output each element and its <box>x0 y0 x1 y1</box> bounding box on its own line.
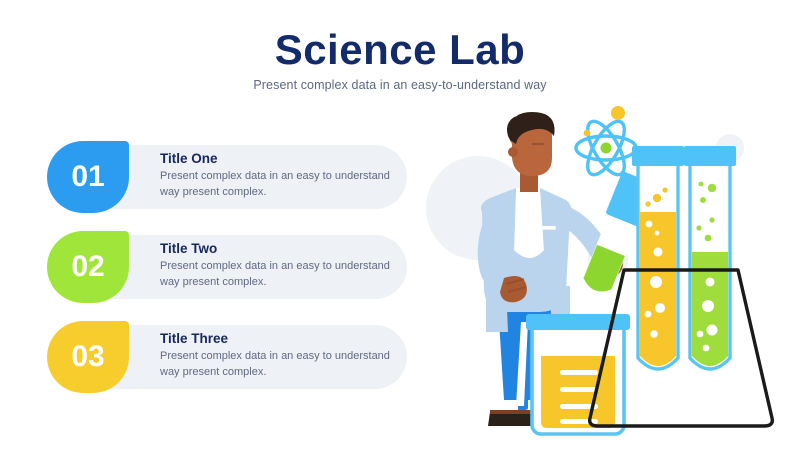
test-tube-green <box>684 146 736 369</box>
header: Science Lab Present complex data in an e… <box>0 26 800 92</box>
list-item-description: Present complex data in an easy to under… <box>160 349 390 380</box>
list-item[interactable]: 01 Title One Present complex data in an … <box>47 141 407 213</box>
beaker-measure-line <box>560 370 598 375</box>
page-title: Science Lab <box>0 26 800 73</box>
list-item-description: Present complex data in an easy to under… <box>160 259 390 290</box>
list-item-number: 01 <box>71 162 104 192</box>
list-item-title: Title Two <box>160 241 390 256</box>
feature-list: 01 Title One Present complex data in an … <box>47 141 407 411</box>
list-item-text: Title Two Present complex data in an eas… <box>160 241 390 290</box>
list-item-title: Title One <box>160 151 390 166</box>
list-item[interactable]: 02 Title Two Present complex data in an … <box>47 231 407 303</box>
slide-canvas: Science Lab Present complex data in an e… <box>0 0 800 450</box>
atom-electron-icon <box>584 130 591 137</box>
science-lab-illustration <box>420 100 800 450</box>
list-item-description: Present complex data in an easy to under… <box>160 169 390 200</box>
test-tube-cap <box>632 146 684 166</box>
beaker-measure-line <box>560 387 598 392</box>
atom-nucleus-icon <box>601 143 612 154</box>
beaker <box>526 314 630 434</box>
list-item-number: 03 <box>71 342 104 372</box>
list-item-badge: 01 <box>47 141 129 213</box>
floating-dot-icon <box>611 106 625 120</box>
page-subtitle: Present complex data in an easy-to-under… <box>0 78 800 92</box>
list-item-title: Title Three <box>160 331 390 346</box>
list-item-badge: 02 <box>47 231 129 303</box>
list-item[interactable]: 03 Title Three Present complex data in a… <box>47 321 407 393</box>
list-item-text: Title Three Present complex data in an e… <box>160 331 390 380</box>
list-item-number: 02 <box>71 252 104 282</box>
list-item-badge: 03 <box>47 321 129 393</box>
list-item-text: Title One Present complex data in an eas… <box>160 151 390 200</box>
test-tube-yellow <box>632 146 684 369</box>
test-tube-cap <box>684 146 736 166</box>
